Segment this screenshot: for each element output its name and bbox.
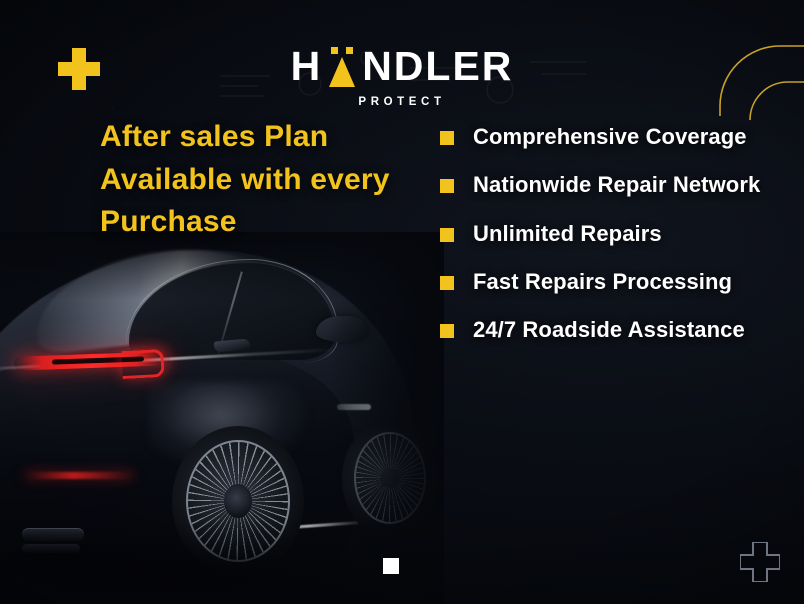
brand-logo-part1: H <box>291 46 323 87</box>
bullet-square-icon <box>440 324 454 338</box>
brand-logo-tagline: PROTECT <box>0 96 804 108</box>
car-rear-reflector <box>24 472 134 479</box>
benefit-label: Comprehensive Coverage <box>473 122 747 151</box>
promo-banner: H NDLER PROTECT After sales Plan Availab… <box>0 0 804 604</box>
benefit-label: 24/7 Roadside Assistance <box>473 315 745 344</box>
bullet-square-icon <box>440 131 454 145</box>
benefits-list: Comprehensive Coverage Nationwide Repair… <box>440 122 770 363</box>
brand-logo: H NDLER PROTECT <box>0 46 804 108</box>
list-item: Fast Repairs Processing <box>440 267 770 296</box>
white-square-marker <box>383 558 399 574</box>
bullet-square-icon <box>440 276 454 290</box>
brand-logo-wordmark: H NDLER <box>291 46 514 87</box>
plus-outline-icon <box>740 542 780 582</box>
bullet-square-icon <box>440 228 454 242</box>
benefit-label: Nationwide Repair Network <box>473 170 760 199</box>
brand-logo-a-glyph-icon <box>325 47 359 87</box>
car-taillight-hook <box>121 349 164 379</box>
list-item: 24/7 Roadside Assistance <box>440 315 770 344</box>
benefit-label: Unlimited Repairs <box>473 219 662 248</box>
brand-logo-part2: NDLER <box>362 46 513 87</box>
car-wheel-hub <box>224 484 252 518</box>
list-item: Unlimited Repairs <box>440 219 770 248</box>
bullet-square-icon <box>440 179 454 193</box>
hero-car-image <box>0 232 444 604</box>
page-title: After sales Plan Available with every Pu… <box>100 116 430 244</box>
benefit-label: Fast Repairs Processing <box>473 267 732 296</box>
car-fade-bottom <box>0 520 444 604</box>
list-item: Nationwide Repair Network <box>440 170 770 199</box>
list-item: Comprehensive Coverage <box>440 122 770 151</box>
